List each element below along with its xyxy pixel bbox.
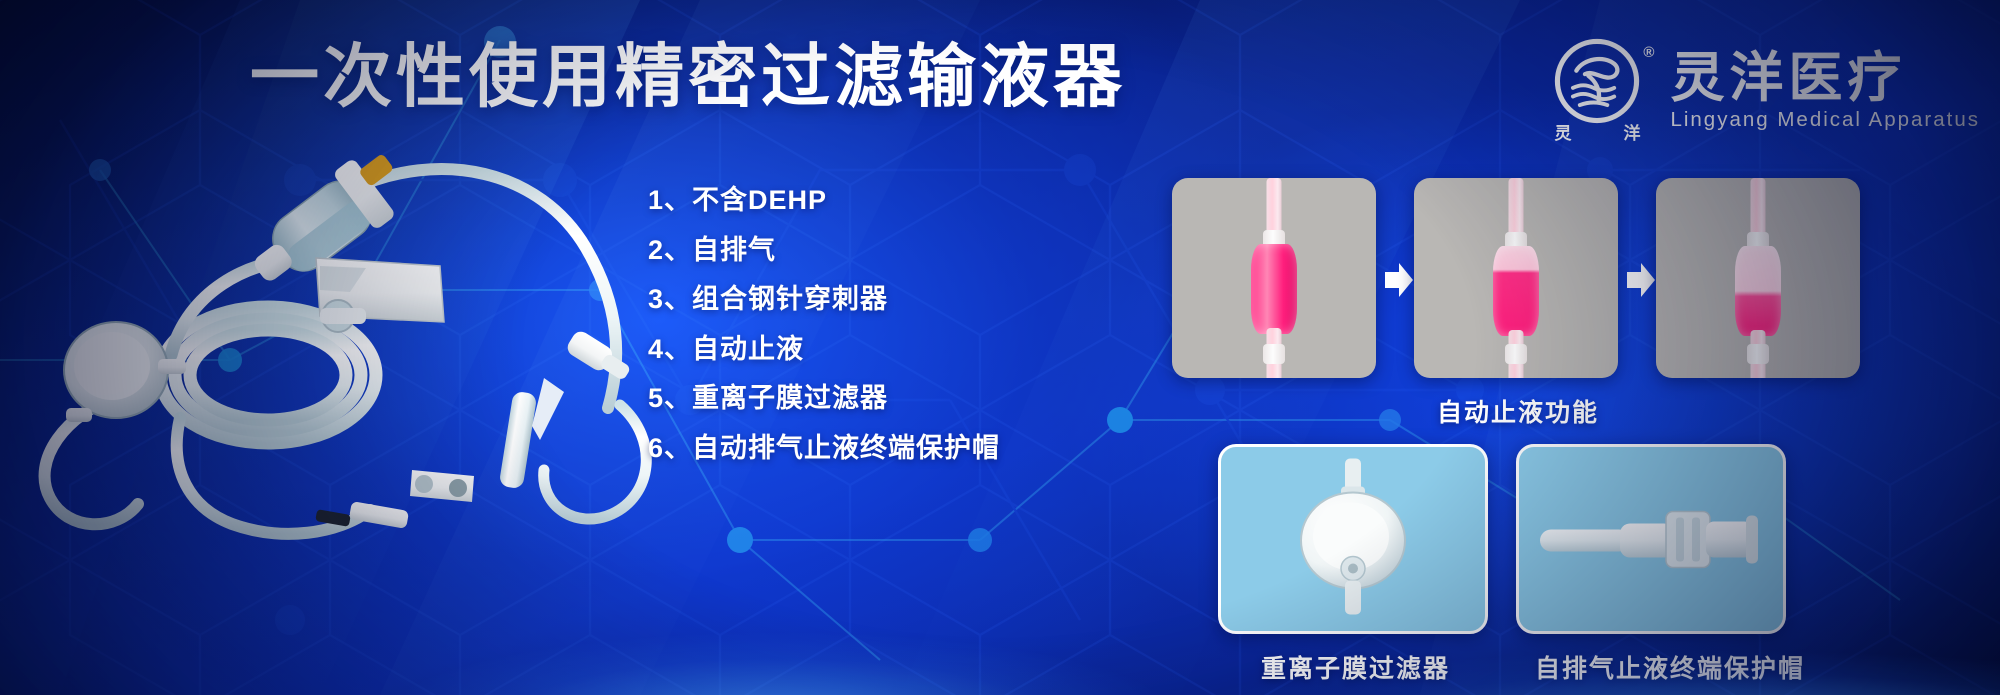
emblem-char-right: 洋 <box>1623 119 1640 144</box>
roller-clamp <box>316 258 444 332</box>
list-item: 3、 组合钢针穿刺器 <box>648 275 1000 325</box>
page-title: 一次性使用精密过滤输液器 <box>250 42 1126 111</box>
protective-cap <box>499 391 538 490</box>
heavy-ion-membrane-filter-caption: 重离子膜过滤器 <box>1261 649 1450 685</box>
company-name-en: Lingyang Medical Apparatus <box>1670 108 1980 132</box>
auto-stop-photo-2 <box>1414 178 1618 378</box>
arrow-right-icon <box>1623 258 1659 302</box>
feature-index: 5、 <box>648 385 692 412</box>
auto-stop-photo-1 <box>1172 178 1376 378</box>
self-venting-cap-caption: 自排气止液终端保护帽 <box>1535 649 1805 685</box>
feature-index: 2、 <box>648 237 692 264</box>
feature-label: 不含DEHP <box>692 187 827 214</box>
emblem-char-left: 灵 <box>1554 119 1571 144</box>
feature-label: 重离子膜过滤器 <box>692 385 888 412</box>
feature-index: 4、 <box>648 336 692 363</box>
feature-label: 组合钢针穿刺器 <box>692 286 888 313</box>
list-item: 5、 重离子膜过滤器 <box>648 374 1000 424</box>
feature-label: 自排气 <box>692 237 776 264</box>
flow-clamp <box>410 470 474 502</box>
product-banner: 一次性使用精密过滤输液器 ® 灵 洋 灵洋医疗 Lingyang Medical… <box>0 0 2000 695</box>
list-item: 1、 不含DEHP <box>648 176 1000 226</box>
auto-stop-photo-3 <box>1656 178 1860 378</box>
heavy-ion-membrane-filter-photo <box>1218 444 1488 634</box>
feature-index: 6、 <box>648 435 692 462</box>
self-venting-cap-photo <box>1516 444 1786 634</box>
needle-tip <box>532 378 564 440</box>
list-item: 6、 自动排气止液终端保护帽 <box>648 424 1000 474</box>
lingyang-emblem-icon: ® 灵 洋 <box>1554 38 1652 144</box>
auto-stop-caption: 自动止液功能 <box>1437 393 1599 429</box>
list-item: 4、 自动止液 <box>648 325 1000 375</box>
feature-label: 自动排气止液终端保护帽 <box>692 435 1000 462</box>
registered-trademark-symbol: ® <box>1643 44 1654 61</box>
injection-port <box>564 328 634 385</box>
feature-list: 1、 不含DEHP 2、 自排气 3、 组合钢针穿刺器 4、 自动止液 5、 重… <box>648 176 1000 473</box>
hero-product-image <box>20 140 680 560</box>
list-item: 2、 自排气 <box>648 226 1000 276</box>
company-name-cn: 灵洋医疗 <box>1670 50 1980 106</box>
feature-index: 1、 <box>648 187 692 214</box>
feature-label: 自动止液 <box>692 336 804 363</box>
arrow-right-icon <box>1381 258 1417 302</box>
brand-logo: ® 灵 洋 灵洋医疗 Lingyang Medical Apparatus <box>1554 38 1980 144</box>
feature-index: 3、 <box>648 286 692 313</box>
